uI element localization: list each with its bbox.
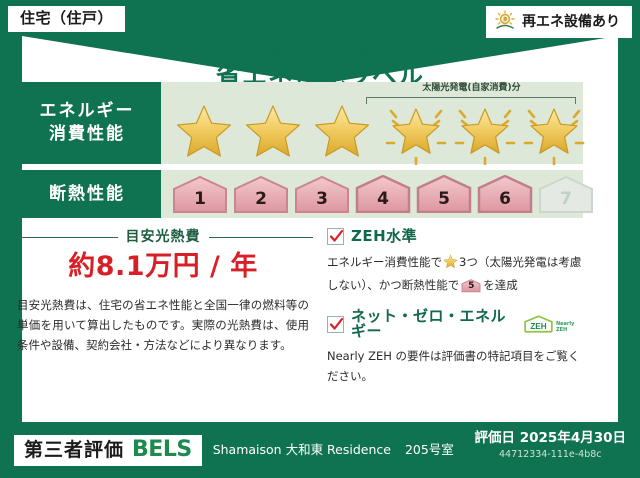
- heading-rule-left: [13, 237, 118, 238]
- zeh-standard-body-part1: エネルギー消費性能で: [327, 255, 442, 269]
- energy-label-line1: エネルギー: [40, 100, 135, 123]
- insulation-level-7: 7: [537, 175, 595, 213]
- star-icon: [443, 258, 458, 272]
- footer-bar: 第三者評価 BELS Shamaison 大和東 Residence 205号室…: [0, 422, 640, 478]
- zeh-standard-item: ZEH水準 エネルギー消費性能で3つ（太陽光発電は考慮しない）、かつ断熱性能で5…: [327, 228, 583, 295]
- insulation-level-3: 3: [293, 175, 351, 213]
- utility-cost-heading-label: 目安光熱費: [126, 230, 201, 244]
- star-1: [169, 97, 238, 161]
- zeh-standard-title: ZEH水準: [351, 229, 417, 244]
- insulation-level-5: 5: [415, 175, 473, 213]
- energy-label-line2: 消費性能: [49, 123, 125, 146]
- zeh-standard-body-part3: を達成: [483, 278, 518, 292]
- star-5-solar: [445, 97, 514, 161]
- solar-sparkle-icon: [450, 103, 520, 165]
- renewable-energy-badge: 再エネ設備あり: [486, 6, 632, 38]
- insulation-level-3-label: 3: [293, 191, 351, 208]
- insulation-level-1-label: 1: [171, 191, 229, 208]
- check-icon: [327, 228, 344, 245]
- net-zero-energy-title: ネット・ゼロ・エネルギー: [351, 309, 512, 339]
- energy-stars-area: 太陽光発電(自家消費)分: [161, 82, 583, 164]
- insulation-level-4: 4: [354, 175, 412, 213]
- ratings-section: エネルギー 消費性能 太陽光発電(自家消費)分: [13, 82, 583, 218]
- sun-icon: [494, 10, 516, 33]
- insulation-level-6-label: 6: [476, 191, 534, 208]
- energy-performance-label-cell: エネルギー 消費性能: [13, 82, 161, 164]
- insulation-performance-label-cell: 断熱性能: [13, 170, 161, 218]
- insulation-level-1: 1: [171, 175, 229, 213]
- evaluation-id: 44712334-111e-4b8c: [475, 449, 626, 460]
- property-name: Shamaison 大和東 Residence 205号室: [213, 444, 454, 457]
- net-zero-energy-header: ネット・ゼロ・エネルギー ZEH Nearly ZEH: [327, 309, 583, 339]
- solar-sparkle-icon: [519, 103, 589, 165]
- property-name-text: Shamaison 大和東 Residence: [213, 442, 391, 457]
- zeh-logo-sublabel: Nearly ZEH: [556, 322, 583, 335]
- insulation-level-list: 1 2 3 4 5: [171, 175, 595, 213]
- house-type-tag: 住宅（住戸）: [8, 6, 125, 32]
- utility-cost-value: 約8.1万円 / 年: [13, 252, 313, 282]
- renewable-energy-badge-label: 再エネ設備あり: [522, 15, 620, 29]
- evaluation-date: 評価日 2025年4月30日: [475, 430, 626, 446]
- insulation-level-2: 2: [232, 175, 290, 213]
- check-icon: [327, 316, 344, 333]
- insulation-level-2-label: 2: [232, 191, 290, 208]
- heading-rule-right: [209, 237, 314, 238]
- net-zero-energy-item: ネット・ゼロ・エネルギー ZEH Nearly ZEH Nearly ZEH の…: [327, 309, 583, 386]
- svg-text:ZEH: ZEH: [530, 322, 546, 331]
- star-4-solar: [376, 97, 445, 161]
- insulation-house-icon: 5: [461, 278, 481, 293]
- star-2: [238, 97, 307, 161]
- property-unit: 205号室: [405, 442, 454, 457]
- details-section: 目安光熱費 約8.1万円 / 年 目安光熱費は、住宅の省エネ性能と全国一律の燃料…: [13, 228, 583, 386]
- zeh-standard-body: エネルギー消費性能で3つ（太陽光発電は考慮しない）、かつ断熱性能で5を達成: [327, 252, 583, 295]
- insulation-performance-row: 断熱性能 1 2 3: [13, 170, 583, 218]
- evaluation-info: 評価日 2025年4月30日 44712334-111e-4b8c: [475, 430, 626, 461]
- utility-cost-heading: 目安光熱費: [13, 230, 313, 244]
- insulation-house-icon-value: 5: [461, 282, 481, 291]
- title-subtitle: 建築物省エネ法に基づく: [0, 42, 640, 58]
- bels-jp-label: 第三者評価: [24, 441, 124, 460]
- utility-cost-note: 目安光熱費は、住宅の省エネ性能と全国一律の燃料等の単価を用いて算出したものです。…: [13, 295, 313, 355]
- star-rating: [161, 96, 583, 162]
- bels-logo: 第三者評価 BELS: [14, 435, 202, 466]
- net-zero-energy-body: Nearly ZEH の要件は評価書の特記項目をご覧ください。: [327, 346, 583, 386]
- zeh-logo: ZEH Nearly ZEH: [523, 313, 583, 335]
- solar-bracket-label: 太陽光発電(自家消費)分: [364, 84, 579, 93]
- insulation-levels-area: 1 2 3 4 5: [161, 170, 583, 218]
- utility-cost-column: 目安光熱費 約8.1万円 / 年 目安光熱費は、住宅の省エネ性能と全国一律の燃料…: [13, 228, 323, 386]
- insulation-label: 断熱性能: [49, 183, 125, 206]
- solar-sparkle-icon: [381, 103, 451, 165]
- bels-en-label: BELS: [132, 439, 192, 461]
- insulation-level-5-label: 5: [415, 191, 473, 208]
- energy-performance-label: 住宅（住戸） 再エネ設備あり 建築物省エネ法に基づく: [0, 0, 640, 478]
- insulation-level-6: 6: [476, 175, 534, 213]
- star-6-solar: [514, 97, 583, 161]
- star-3: [307, 97, 376, 161]
- insulation-level-7-label: 7: [537, 191, 595, 208]
- energy-performance-row: エネルギー 消費性能 太陽光発電(自家消費)分: [13, 82, 583, 164]
- zeh-column: ZEH水準 エネルギー消費性能で3つ（太陽光発電は考慮しない）、かつ断熱性能で5…: [323, 228, 583, 386]
- zeh-standard-header: ZEH水準: [327, 228, 583, 245]
- insulation-level-4-label: 4: [354, 191, 412, 208]
